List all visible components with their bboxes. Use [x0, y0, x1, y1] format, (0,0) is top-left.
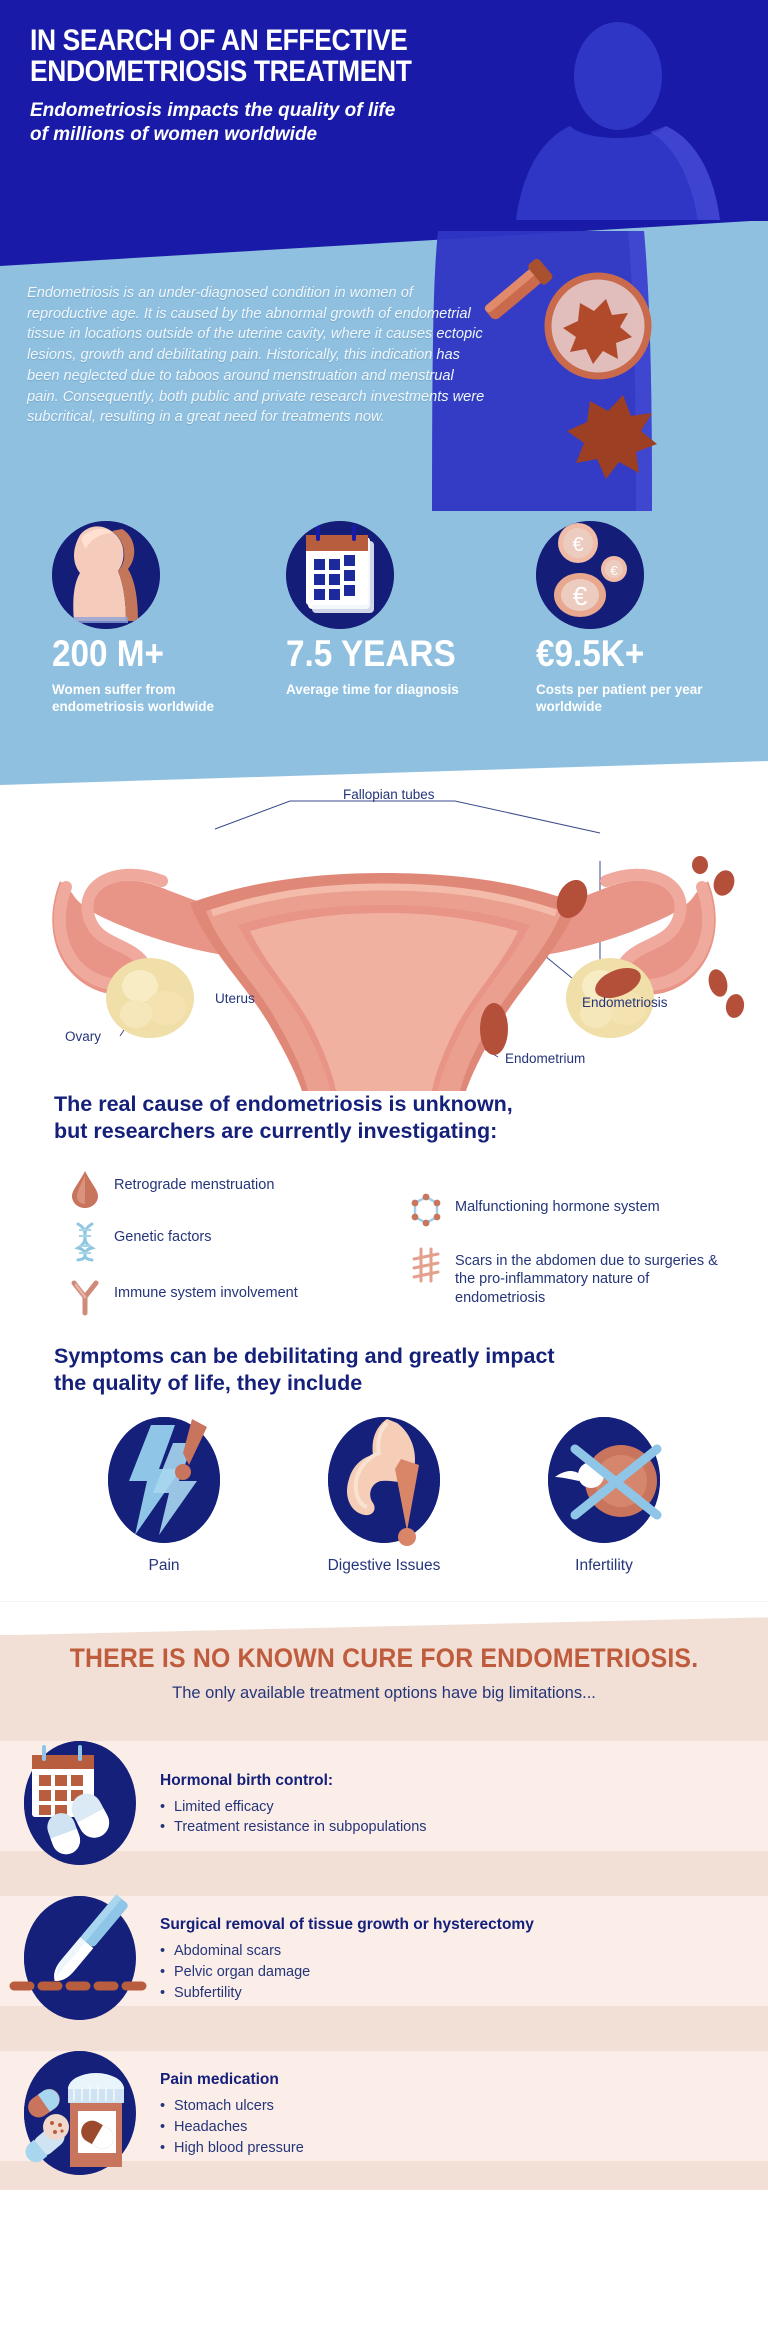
anatomy-label-endometriosis: Endometriosis: [582, 995, 668, 1010]
treatment-limitation: Abdominal scars: [160, 1941, 534, 1962]
symptom-label: Pain: [69, 1557, 259, 1575]
treatment-body: Pain medication Stomach ulcers Headaches…: [160, 2067, 304, 2158]
cause-label: Immune system involvement: [114, 1277, 298, 1302]
stat-caption: Average time for diagnosis: [286, 681, 471, 698]
stat-number: 200 M+: [52, 635, 236, 672]
causes-heading-line2: but researchers are currently investigat…: [54, 1118, 714, 1145]
treatment-body: Surgical removal of tissue growth or hys…: [160, 1912, 534, 2003]
symptom-item-infertility: Infertility: [509, 1417, 699, 1575]
hormone-molecule-icon: [409, 1191, 443, 1231]
stats-row: 200 M+ Women suffer from endometriosis w…: [0, 521, 768, 761]
pill-bottle-icon: [24, 2051, 134, 2175]
cause-label: Scars in the abdomen due to surgeries & …: [455, 1245, 739, 1307]
symptoms-section: Symptoms can be debilitating and greatly…: [0, 1343, 768, 1575]
symptom-item-digestive: Digestive Issues: [289, 1417, 479, 1575]
treatment-title: Pain medication: [160, 2071, 304, 2089]
treatment-body: Hormonal birth control: Limited efficacy…: [160, 1768, 427, 1838]
causes-heading: The real cause of endometriosis is unkno…: [54, 1091, 714, 1145]
anatomy-label-fallopian-tubes: Fallopian tubes: [343, 787, 435, 802]
treatment-limitation: Treatment resistance in subpopulations: [160, 1817, 427, 1838]
stat-caption: Women suffer from endometriosis worldwid…: [52, 681, 237, 715]
cause-label: Malfunctioning hormone system: [455, 1191, 660, 1216]
causes-section: The real cause of endometriosis is unkno…: [0, 1091, 768, 1339]
symptom-label: Digestive Issues: [289, 1557, 479, 1575]
symptoms-heading: Symptoms can be debilitating and greatly…: [54, 1343, 714, 1397]
symptom-label: Infertility: [509, 1557, 699, 1575]
lightning-pain-icon: [108, 1417, 220, 1543]
page-title-line2: ENDOMETRIOSIS TREATMENT: [30, 57, 523, 88]
stat-card-cost: € € € €9.5K+ Costs per patient per year …: [512, 521, 768, 761]
intro-paragraph: Endometriosis is an under-diagnosed cond…: [27, 283, 487, 428]
hero-banner: IN SEARCH OF AN EFFECTIVE ENDOMETRIOSIS …: [0, 0, 768, 222]
page-subtitle: Endometriosis impacts the quality of lif…: [30, 99, 550, 147]
treatment-limitation: Stomach ulcers: [160, 2096, 304, 2117]
blood-drop-icon: [68, 1169, 102, 1209]
symptoms-list: Pain Digestive Issues: [54, 1417, 714, 1575]
uterus-anatomy-diagram: Fallopian tubes Uterus Ovary Endometrios…: [0, 761, 768, 1091]
scalpel-incision-icon: [24, 1896, 134, 2020]
surgical-stitches-icon: [409, 1245, 443, 1285]
treatment-item-surgical-removal: Surgical removal of tissue growth or hys…: [0, 1880, 768, 2035]
page-title-line1: IN SEARCH OF AN EFFECTIVE: [30, 26, 523, 57]
anatomy-label-ovary: Ovary: [65, 1029, 101, 1044]
cause-item-immune-system: Immune system involvement: [68, 1277, 298, 1317]
symptoms-heading-line1: Symptoms can be debilitating and greatly…: [54, 1343, 714, 1370]
woman-head-profile-icon: [52, 521, 160, 629]
stat-card-prevalence: 200 M+ Women suffer from endometriosis w…: [0, 521, 256, 761]
symptom-item-pain: Pain: [69, 1417, 259, 1575]
anatomy-label-uterus: Uterus: [215, 991, 255, 1006]
page-subtitle-line1: Endometriosis impacts the quality of lif…: [30, 99, 550, 123]
no-cure-section: THERE IS NO KNOWN CURE FOR ENDOMETRIOSIS…: [0, 1601, 768, 2190]
treatment-limitation: High blood pressure: [160, 2138, 304, 2159]
cause-item-hormone-system: Malfunctioning hormone system: [409, 1191, 660, 1231]
cause-label: Genetic factors: [114, 1221, 212, 1246]
cause-item-retrograde-menstruation: Retrograde menstruation: [68, 1169, 274, 1209]
dna-helix-icon: [68, 1221, 102, 1261]
svg-text:€: €: [573, 581, 588, 611]
no-cure-subtitle: The only available treatment options hav…: [0, 1684, 768, 1703]
svg-text:€: €: [572, 534, 583, 556]
treatments-list: Hormonal birth control: Limited efficacy…: [0, 1725, 768, 2190]
calendar-icon: [286, 521, 394, 629]
page-title: IN SEARCH OF AN EFFECTIVE ENDOMETRIOSIS …: [30, 26, 523, 87]
stat-card-diagnosis-time: 7.5 YEARS Average time for diagnosis: [256, 521, 512, 761]
treatment-limitations: Limited efficacy Treatment resistance in…: [160, 1797, 427, 1838]
cause-item-abdominal-scars: Scars in the abdomen due to surgeries & …: [409, 1245, 739, 1307]
stat-number: 7.5 YEARS: [286, 635, 489, 672]
antibody-icon: [68, 1277, 102, 1317]
causes-list: Retrograde menstruation: [54, 1159, 714, 1339]
treatment-limitations: Abdominal scars Pelvic organ damage Subf…: [160, 1941, 534, 2003]
treatment-item-hormonal-birth-control: Hormonal birth control: Limited efficacy…: [0, 1725, 768, 1880]
symptoms-heading-line2: the quality of life, they include: [54, 1370, 714, 1397]
stat-caption: Costs per patient per year worldwide: [536, 681, 721, 715]
treatment-limitation: Limited efficacy: [160, 1797, 427, 1818]
treatment-limitation: Subfertility: [160, 1983, 534, 2004]
treatment-limitation: Pelvic organ damage: [160, 1962, 534, 1983]
infographic-page: IN SEARCH OF AN EFFECTIVE ENDOMETRIOSIS …: [0, 0, 768, 2347]
calendar-pills-icon: [24, 1741, 134, 1865]
diagonal-divider: [0, 1601, 768, 1635]
intro-band: Endometriosis is an under-diagnosed cond…: [0, 221, 768, 761]
treatment-limitation: Headaches: [160, 2117, 304, 2138]
no-cure-title: THERE IS NO KNOWN CURE FOR ENDOMETRIOSIS…: [31, 1643, 738, 1674]
treatment-item-pain-medication: Pain medication Stomach ulcers Headaches…: [0, 2035, 768, 2190]
sperm-egg-crossed-icon: [548, 1417, 660, 1543]
stat-number: €9.5K+: [536, 635, 745, 672]
page-subtitle-line2: of millions of women worldwide: [30, 123, 550, 147]
anatomy-label-endometrium: Endometrium: [505, 1051, 585, 1066]
svg-text:€: €: [610, 563, 618, 578]
treatment-title: Hormonal birth control:: [160, 1772, 427, 1790]
cause-label: Retrograde menstruation: [114, 1169, 274, 1194]
cause-item-genetic-factors: Genetic factors: [68, 1221, 212, 1261]
causes-heading-line1: The real cause of endometriosis is unkno…: [54, 1091, 714, 1118]
stomach-digestive-icon: [328, 1417, 440, 1543]
treatment-title: Surgical removal of tissue growth or hys…: [160, 1916, 534, 1934]
euro-coins-icon: € € €: [536, 521, 644, 629]
treatment-limitations: Stomach ulcers Headaches High blood pres…: [160, 2096, 304, 2158]
